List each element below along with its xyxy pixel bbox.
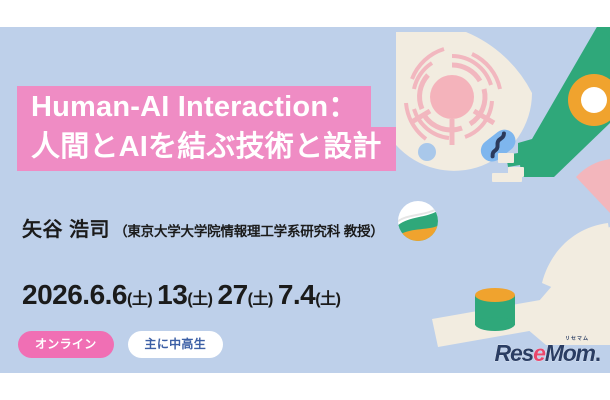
resemom-logo-word: ReseMom.	[495, 342, 600, 365]
speaker-line: 矢谷 浩司（東京大学大学院情報理工学系研究科 教授）	[22, 213, 384, 242]
speaker-name: 矢谷 浩司	[22, 219, 110, 241]
speaker-affiliation: （東京大学大学院情報理工学系研究科 教授）	[114, 224, 384, 239]
event-title: Human-AI Interaction： 人間とAIを結ぶ技術と設計	[17, 86, 396, 171]
status-badge-online: オンライン	[18, 331, 114, 358]
striped-sphere	[396, 201, 440, 243]
date-1-dow: (土)	[127, 291, 152, 308]
event-title-line-1: Human-AI Interaction：	[17, 86, 371, 127]
resemom-logo-part2: Mom	[545, 340, 595, 366]
resemom-logo: リセマム ReseMom.	[495, 336, 600, 365]
date-4-dow: (土)	[315, 291, 340, 308]
petri-dish-shape	[396, 32, 532, 171]
event-title-line-2: 人間とAIを結ぶ技術と設計	[17, 127, 396, 171]
date-2-dow: (土)	[187, 291, 212, 308]
petri-dot	[418, 143, 436, 161]
science-illustration	[370, 27, 610, 373]
microscope-lens-center	[581, 87, 607, 113]
promo-banner-page: Human-AI Interaction： 人間とAIを結ぶ技術と設計 矢谷 浩…	[0, 0, 610, 400]
status-badge-audience: 主に中高生	[128, 331, 224, 358]
date-3-value: 27	[218, 279, 248, 310]
date-2-value: 13	[157, 279, 187, 310]
badge-group: オンライン 主に中高生	[18, 331, 223, 358]
event-dates: 2026.6.6(土)13(土)27(土)7.4(土)	[22, 279, 340, 311]
resemom-logo-period: .	[595, 340, 600, 366]
date-3-dow: (土)	[248, 291, 273, 308]
date-1-value: 2026.6.6	[22, 279, 127, 310]
resemom-logo-part1: Res	[495, 340, 534, 366]
sample-cylinder	[475, 288, 515, 331]
event-banner: Human-AI Interaction： 人間とAIを結ぶ技術と設計 矢谷 浩…	[0, 27, 610, 373]
date-4-value: 7.4	[278, 279, 315, 310]
pink-wedge-shape	[576, 159, 610, 213]
resemom-logo-accent-letter: e	[533, 340, 545, 366]
